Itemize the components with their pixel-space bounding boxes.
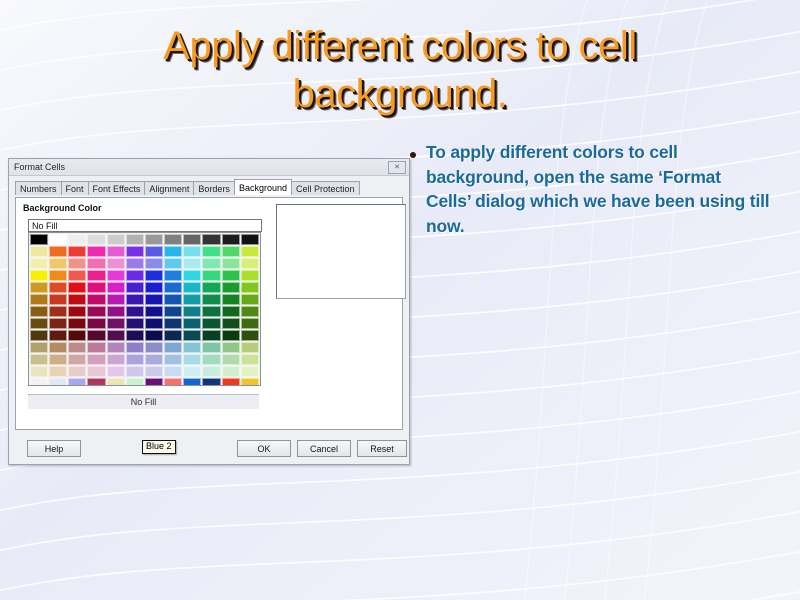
dialog-title: Format Cells bbox=[14, 162, 388, 172]
color-swatch[interactable] bbox=[87, 258, 105, 269]
color-tooltip: Blue 2 bbox=[142, 440, 176, 454]
color-swatch[interactable] bbox=[87, 342, 105, 353]
color-swatch[interactable] bbox=[241, 330, 259, 341]
color-swatch[interactable] bbox=[164, 318, 182, 329]
color-swatch[interactable] bbox=[222, 234, 240, 245]
color-swatch[interactable] bbox=[49, 306, 67, 317]
color-swatch[interactable] bbox=[202, 234, 220, 245]
color-swatch[interactable] bbox=[107, 366, 125, 377]
color-swatch[interactable] bbox=[107, 282, 125, 293]
bullet-text: To apply different colors to cell backgr… bbox=[426, 140, 770, 238]
color-swatch[interactable] bbox=[241, 234, 259, 245]
color-swatch[interactable] bbox=[126, 306, 144, 317]
color-swatch[interactable] bbox=[222, 366, 240, 377]
dialog-tabstrip: NumbersFontFont EffectsAlignmentBordersB… bbox=[9, 180, 409, 195]
color-swatch[interactable] bbox=[126, 330, 144, 341]
color-swatch[interactable] bbox=[202, 258, 220, 269]
color-swatch[interactable] bbox=[30, 306, 48, 317]
color-swatch[interactable] bbox=[202, 330, 220, 341]
dialog-titlebar[interactable]: Format Cells ✕ bbox=[9, 159, 409, 176]
tab-borders[interactable]: Borders bbox=[193, 181, 235, 195]
tab-font[interactable]: Font bbox=[61, 181, 89, 195]
color-swatch[interactable] bbox=[145, 294, 163, 305]
bullet-dot-icon bbox=[410, 152, 416, 158]
color-swatch[interactable] bbox=[107, 270, 125, 281]
color-swatch[interactable] bbox=[87, 330, 105, 341]
color-swatch[interactable] bbox=[202, 246, 220, 257]
color-swatch[interactable] bbox=[30, 366, 48, 377]
color-swatch[interactable] bbox=[183, 234, 201, 245]
color-swatch[interactable] bbox=[87, 306, 105, 317]
color-swatch[interactable] bbox=[68, 342, 86, 353]
color-swatch[interactable] bbox=[107, 306, 125, 317]
color-swatch[interactable] bbox=[164, 246, 182, 257]
color-swatch[interactable] bbox=[202, 366, 220, 377]
color-swatch[interactable] bbox=[222, 378, 240, 386]
color-swatch[interactable] bbox=[183, 258, 201, 269]
background-color-value-field[interactable]: No Fill bbox=[28, 219, 262, 232]
color-swatch[interactable] bbox=[145, 354, 163, 365]
color-swatch[interactable] bbox=[30, 234, 48, 245]
color-swatch[interactable] bbox=[183, 306, 201, 317]
color-swatch[interactable] bbox=[164, 378, 182, 386]
color-swatch[interactable] bbox=[49, 246, 67, 257]
color-swatch[interactable] bbox=[202, 318, 220, 329]
color-swatch[interactable] bbox=[30, 330, 48, 341]
color-swatch[interactable] bbox=[68, 306, 86, 317]
tab-background[interactable]: Background bbox=[234, 179, 292, 195]
color-swatch[interactable] bbox=[126, 354, 144, 365]
color-swatch[interactable] bbox=[68, 366, 86, 377]
color-swatch[interactable] bbox=[126, 378, 144, 386]
color-swatch[interactable] bbox=[126, 282, 144, 293]
close-icon[interactable]: ✕ bbox=[388, 161, 406, 174]
color-swatch[interactable] bbox=[68, 258, 86, 269]
color-swatch[interactable] bbox=[164, 258, 182, 269]
color-swatch[interactable] bbox=[87, 354, 105, 365]
color-swatch[interactable] bbox=[49, 330, 67, 341]
color-swatch[interactable] bbox=[164, 282, 182, 293]
color-swatch[interactable] bbox=[68, 282, 86, 293]
help-button[interactable]: Help bbox=[27, 440, 81, 457]
color-swatch[interactable] bbox=[68, 330, 86, 341]
color-swatch[interactable] bbox=[222, 246, 240, 257]
color-swatch[interactable] bbox=[145, 306, 163, 317]
color-swatch[interactable] bbox=[164, 330, 182, 341]
color-swatch[interactable] bbox=[222, 354, 240, 365]
color-swatch[interactable] bbox=[68, 354, 86, 365]
color-swatch[interactable] bbox=[107, 258, 125, 269]
color-swatch[interactable] bbox=[183, 282, 201, 293]
color-swatch[interactable] bbox=[68, 270, 86, 281]
color-swatch[interactable] bbox=[49, 258, 67, 269]
color-swatch[interactable] bbox=[107, 330, 125, 341]
color-swatch[interactable] bbox=[30, 258, 48, 269]
color-swatch[interactable] bbox=[202, 342, 220, 353]
color-swatch[interactable] bbox=[30, 246, 48, 257]
color-swatch[interactable] bbox=[202, 282, 220, 293]
color-swatch[interactable] bbox=[49, 234, 67, 245]
color-swatch[interactable] bbox=[107, 234, 125, 245]
background-color-group-label: Background Color bbox=[23, 203, 102, 213]
color-swatch[interactable] bbox=[126, 342, 144, 353]
color-swatch[interactable] bbox=[164, 306, 182, 317]
slide-title: Apply different colors to cell backgroun… bbox=[60, 22, 740, 118]
tab-cell-protection[interactable]: Cell Protection bbox=[291, 181, 360, 195]
color-preview-box bbox=[276, 204, 406, 299]
color-swatch[interactable] bbox=[68, 294, 86, 305]
color-palette-container[interactable] bbox=[28, 232, 261, 386]
background-tab-panel: Background Color No Fill No Fill bbox=[15, 197, 403, 430]
color-swatch[interactable] bbox=[164, 342, 182, 353]
color-swatch[interactable] bbox=[30, 282, 48, 293]
color-swatch[interactable] bbox=[183, 366, 201, 377]
color-swatch[interactable] bbox=[49, 318, 67, 329]
color-swatch[interactable] bbox=[241, 354, 259, 365]
color-swatch[interactable] bbox=[241, 294, 259, 305]
color-swatch[interactable] bbox=[107, 354, 125, 365]
color-swatch[interactable] bbox=[30, 378, 48, 386]
color-swatch[interactable] bbox=[202, 378, 220, 386]
color-swatch[interactable] bbox=[164, 234, 182, 245]
color-swatch[interactable] bbox=[202, 294, 220, 305]
color-swatch[interactable] bbox=[145, 330, 163, 341]
color-swatch[interactable] bbox=[49, 282, 67, 293]
color-swatch[interactable] bbox=[145, 246, 163, 257]
color-swatch[interactable] bbox=[145, 366, 163, 377]
color-swatch[interactable] bbox=[202, 270, 220, 281]
color-swatch[interactable] bbox=[241, 366, 259, 377]
color-swatch[interactable] bbox=[68, 246, 86, 257]
color-swatch[interactable] bbox=[164, 270, 182, 281]
color-swatch[interactable] bbox=[241, 342, 259, 353]
color-swatch[interactable] bbox=[49, 378, 67, 386]
tab-numbers[interactable]: Numbers bbox=[15, 181, 62, 195]
tab-alignment[interactable]: Alignment bbox=[144, 181, 194, 195]
color-swatch[interactable] bbox=[222, 342, 240, 353]
color-swatch[interactable] bbox=[241, 378, 259, 386]
color-swatch[interactable] bbox=[241, 270, 259, 281]
palette-status-label: No Fill bbox=[28, 394, 259, 409]
color-swatch[interactable] bbox=[202, 354, 220, 365]
color-swatch[interactable] bbox=[222, 270, 240, 281]
color-swatch[interactable] bbox=[145, 342, 163, 353]
color-swatch[interactable] bbox=[222, 306, 240, 317]
color-swatch[interactable] bbox=[30, 354, 48, 365]
color-swatch[interactable] bbox=[68, 234, 86, 245]
color-swatch[interactable] bbox=[30, 294, 48, 305]
color-swatch[interactable] bbox=[222, 330, 240, 341]
color-swatch[interactable] bbox=[241, 306, 259, 317]
color-swatch[interactable] bbox=[183, 294, 201, 305]
color-swatch[interactable] bbox=[107, 294, 125, 305]
color-swatch[interactable] bbox=[145, 270, 163, 281]
color-swatch[interactable] bbox=[164, 366, 182, 377]
color-swatch[interactable] bbox=[222, 294, 240, 305]
color-swatch[interactable] bbox=[222, 282, 240, 293]
reset-button[interactable]: Reset bbox=[357, 440, 407, 457]
cancel-button[interactable]: Cancel bbox=[297, 440, 351, 457]
color-swatch[interactable] bbox=[222, 258, 240, 269]
color-swatch[interactable] bbox=[241, 282, 259, 293]
color-palette-grid[interactable] bbox=[29, 233, 260, 386]
color-swatch[interactable] bbox=[183, 330, 201, 341]
color-swatch[interactable] bbox=[145, 378, 163, 386]
format-cells-dialog: Format Cells ✕ NumbersFontFont EffectsAl… bbox=[8, 158, 410, 465]
color-swatch[interactable] bbox=[183, 246, 201, 257]
bullet-list: To apply different colors to cell backgr… bbox=[410, 140, 770, 238]
color-swatch[interactable] bbox=[126, 234, 144, 245]
color-swatch[interactable] bbox=[87, 378, 105, 386]
color-swatch[interactable] bbox=[145, 282, 163, 293]
color-swatch[interactable] bbox=[183, 318, 201, 329]
color-swatch[interactable] bbox=[30, 342, 48, 353]
color-swatch[interactable] bbox=[126, 270, 144, 281]
color-swatch[interactable] bbox=[241, 318, 259, 329]
tab-font-effects[interactable]: Font Effects bbox=[88, 181, 146, 195]
color-swatch[interactable] bbox=[68, 378, 86, 386]
color-swatch[interactable] bbox=[126, 294, 144, 305]
color-swatch[interactable] bbox=[145, 234, 163, 245]
color-swatch[interactable] bbox=[49, 270, 67, 281]
color-swatch[interactable] bbox=[87, 246, 105, 257]
color-swatch[interactable] bbox=[107, 246, 125, 257]
color-swatch[interactable] bbox=[126, 366, 144, 377]
color-swatch[interactable] bbox=[126, 246, 144, 257]
color-swatch[interactable] bbox=[49, 366, 67, 377]
color-swatch[interactable] bbox=[30, 318, 48, 329]
color-swatch[interactable] bbox=[87, 270, 105, 281]
color-swatch[interactable] bbox=[126, 318, 144, 329]
color-swatch[interactable] bbox=[222, 318, 240, 329]
color-swatch[interactable] bbox=[164, 294, 182, 305]
color-swatch[interactable] bbox=[145, 258, 163, 269]
color-swatch[interactable] bbox=[183, 354, 201, 365]
color-swatch[interactable] bbox=[126, 258, 144, 269]
color-swatch[interactable] bbox=[107, 378, 125, 386]
color-swatch[interactable] bbox=[87, 366, 105, 377]
color-swatch[interactable] bbox=[107, 342, 125, 353]
color-swatch[interactable] bbox=[87, 234, 105, 245]
color-swatch[interactable] bbox=[107, 318, 125, 329]
color-swatch[interactable] bbox=[87, 294, 105, 305]
color-swatch[interactable] bbox=[49, 294, 67, 305]
color-swatch[interactable] bbox=[183, 270, 201, 281]
color-swatch[interactable] bbox=[49, 354, 67, 365]
dialog-button-bar: Help OK Cancel Reset bbox=[9, 440, 409, 460]
color-swatch[interactable] bbox=[241, 246, 259, 257]
color-swatch[interactable] bbox=[164, 354, 182, 365]
ok-button[interactable]: OK bbox=[237, 440, 291, 457]
color-swatch[interactable] bbox=[87, 282, 105, 293]
color-swatch[interactable] bbox=[87, 318, 105, 329]
color-swatch[interactable] bbox=[183, 378, 201, 386]
color-swatch[interactable] bbox=[49, 342, 67, 353]
color-swatch[interactable] bbox=[183, 342, 201, 353]
color-swatch[interactable] bbox=[30, 270, 48, 281]
color-swatch[interactable] bbox=[145, 318, 163, 329]
color-swatch[interactable] bbox=[202, 306, 220, 317]
color-swatch[interactable] bbox=[68, 318, 86, 329]
color-swatch[interactable] bbox=[241, 258, 259, 269]
